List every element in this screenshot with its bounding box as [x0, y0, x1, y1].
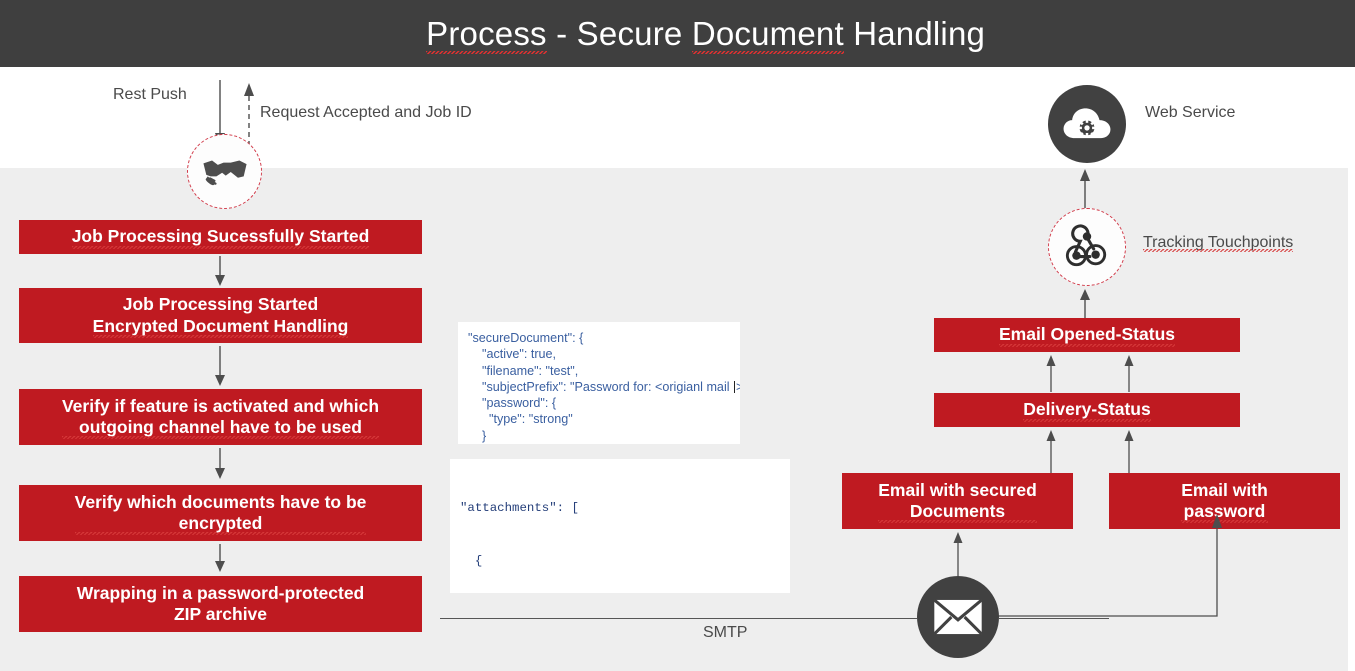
attachments-json-panel[interactable]: "attachments": [ { "name": "name.txt", "… [450, 459, 790, 593]
smtp-envelope-node [917, 576, 999, 658]
step-arrow-4-5 [208, 544, 232, 574]
password-email-to-delivery-arrow [1119, 428, 1139, 476]
code-line-4: "password": { [468, 396, 556, 410]
delivery-to-opened-arrow-left [1041, 353, 1061, 393]
code-line-6: } [468, 429, 486, 443]
cloud-gear-icon [1062, 104, 1112, 144]
page-title-part-3: Handling [844, 15, 985, 52]
handshake-node [187, 134, 262, 209]
tracking-touchpoints-text: Tracking Touchpoints [1143, 234, 1293, 251]
step-label-4: Verify which documents have to be encryp… [75, 492, 367, 535]
step-arrow-2-3 [208, 346, 232, 388]
page-title-bar: Process - Secure Document Handling [0, 0, 1355, 67]
smtp-label: SMTP [703, 624, 747, 642]
step-label-3: Verify if feature is activated and which… [62, 396, 379, 439]
step-box-3[interactable]: Verify if feature is activated and which… [19, 389, 422, 445]
step-label-1: Job Processing Sucessfully Started [72, 226, 370, 247]
request-accepted-text: Request Accepted and Job ID [260, 104, 472, 121]
step-label-2: Job Processing Started Encrypted Documen… [93, 294, 349, 337]
code-line-1: "active": true, [468, 347, 556, 361]
delivery-status-box[interactable]: Delivery-Status [934, 393, 1240, 427]
web-service-label: Web Service [1145, 104, 1235, 122]
code-line-2: "filename": "test", [468, 364, 578, 378]
attachments-json-code: "attachments": [ { "name": "name.txt", "… [450, 459, 790, 593]
smtp-line-left [440, 618, 917, 619]
page-title-part-1: - Secure [547, 15, 692, 52]
touchpoints-to-webservice-arrow [1072, 168, 1098, 210]
step-box-4[interactable]: Verify which documents have to be encryp… [19, 485, 422, 541]
envelope-to-password-email-arrow [990, 510, 1245, 620]
code-line-3-head: "subjectPrefix": "Password for: <origian… [468, 380, 733, 394]
code-line-0: "secureDocument": { [468, 331, 583, 345]
step-box-2[interactable]: Job Processing Started Encrypted Documen… [19, 288, 422, 343]
diagram-canvas: Process - Secure Document Handling Rest … [0, 0, 1355, 671]
email-opened-status-box[interactable]: Email Opened-Status [934, 318, 1240, 352]
delivery-status-label: Delivery-Status [1023, 399, 1150, 420]
email-opened-status-label: Email Opened-Status [999, 324, 1175, 345]
secure-document-json-panel[interactable]: "secureDocument": { "active": true, "fil… [458, 322, 740, 444]
code-line-5: "type": "strong" [468, 412, 573, 426]
handshake-icon [202, 155, 248, 189]
opened-status-to-touchpoints-arrow [1072, 288, 1098, 320]
webhook-icon [1064, 224, 1110, 270]
secured-docs-to-delivery-arrow [1041, 428, 1061, 476]
tracking-touchpoints-node [1048, 208, 1126, 286]
step-box-5[interactable]: Wrapping in a password-protected ZIP arc… [19, 576, 422, 632]
code-line-3-tail: >", [736, 380, 740, 394]
page-title-part-2: Document [692, 15, 844, 52]
delivery-to-opened-arrow-right [1119, 353, 1139, 393]
attach-line-1: { [450, 553, 790, 571]
attach-line-0: "attachments": [ [450, 500, 790, 518]
web-service-node [1048, 85, 1126, 163]
request-accepted-label: Request Accepted and Job ID [260, 104, 472, 122]
step-arrow-1-2 [208, 256, 232, 288]
rest-push-label: Rest Push [113, 86, 187, 104]
step-arrow-3-4 [208, 448, 232, 481]
text-caret [734, 381, 735, 393]
secure-document-json-code: "secureDocument": { "active": true, "fil… [458, 322, 740, 444]
page-title: Process - Secure Document Handling [370, 0, 985, 91]
step-box-1[interactable]: Job Processing Sucessfully Started [19, 220, 422, 254]
smtp-line-right [999, 618, 1109, 619]
page-title-part-0: Process [426, 15, 547, 52]
envelope-icon [933, 599, 983, 635]
tracking-touchpoints-label: Tracking Touchpoints [1143, 234, 1293, 252]
step-label-5: Wrapping in a password-protected ZIP arc… [77, 583, 365, 626]
